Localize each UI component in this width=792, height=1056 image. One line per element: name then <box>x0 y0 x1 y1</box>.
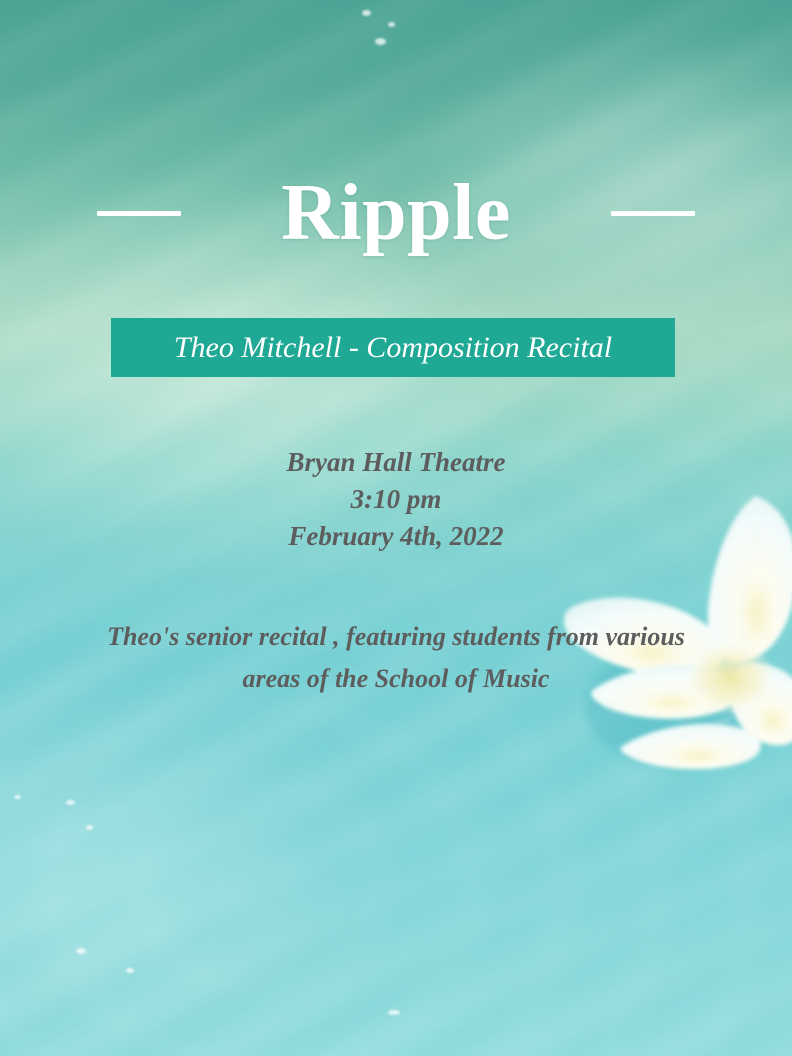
page-title: Ripple <box>281 173 511 253</box>
subtitle-text: Theo Mitchell - Composition Recital <box>174 333 612 363</box>
water-speck <box>375 38 386 45</box>
water-speck <box>14 795 21 799</box>
subtitle-band: Theo Mitchell - Composition Recital <box>111 318 675 377</box>
water-speck <box>76 948 86 954</box>
water-speck <box>388 22 395 27</box>
water-speck <box>388 1010 400 1015</box>
water-speck <box>66 800 75 805</box>
event-details: Bryan Hall Theatre 3:10 pm February 4th,… <box>0 444 792 555</box>
title-row: Ripple <box>0 163 792 263</box>
time-text: 3:10 pm <box>0 481 792 518</box>
water-speck <box>362 10 371 16</box>
water-speck <box>86 825 93 830</box>
description-text: Theo's senior recital , featuring studen… <box>96 616 696 700</box>
venue-text: Bryan Hall Theatre <box>0 444 792 481</box>
rule-left-icon <box>97 211 181 216</box>
date-text: February 4th, 2022 <box>0 518 792 555</box>
poster-canvas: Ripple Theo Mitchell - Composition Recit… <box>0 0 792 1056</box>
water-speck <box>126 968 134 973</box>
rule-right-icon <box>611 211 695 216</box>
